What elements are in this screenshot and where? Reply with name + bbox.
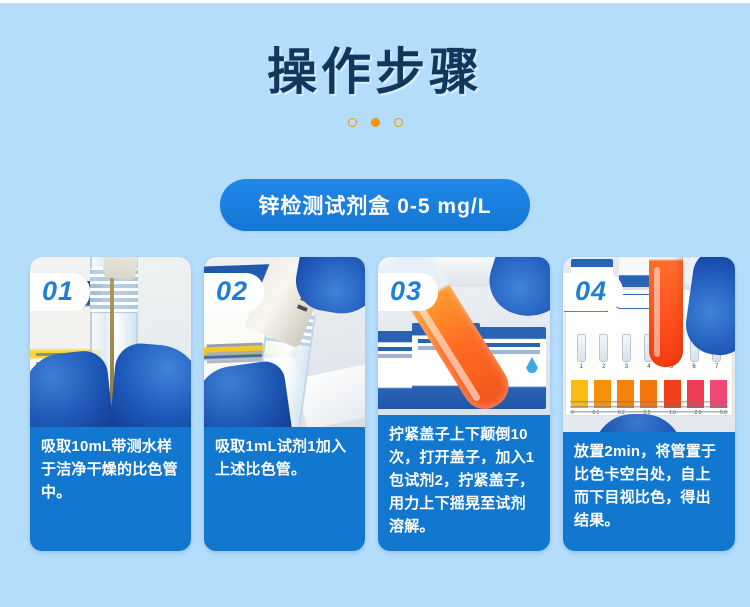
card-footer-text [570, 401, 728, 413]
step-number: 3 [625, 364, 628, 373]
gloved-hand-right [481, 257, 550, 327]
step-caption-1: 吸取10mL带测水样于洁净干燥的比色管中。 [30, 427, 191, 514]
dot-indicator-1 [348, 118, 357, 127]
step-card-2[interactable]: 02 吸取1mL试剂1加入上述比色管。 [204, 257, 365, 551]
page-header: 操作步骤 [0, 42, 750, 127]
step-number-row: 1 2 3 4 5 6 7 [570, 364, 728, 373]
tube-gloss-highlight [654, 267, 660, 357]
step-caption-2: 吸取1mL试剂1加入上述比色管。 [204, 427, 365, 491]
step-number: 4 [647, 364, 650, 373]
mini-tube [577, 334, 586, 362]
step-badge-1: 01 [30, 273, 90, 311]
mini-tube [599, 334, 608, 362]
mini-tube [622, 334, 631, 362]
dot-indicator-group [0, 118, 750, 127]
gloved-hand-lower [204, 359, 293, 427]
step-caption-3: 拧紧盖子上下颠倒10次，打开盖子，加入1包试剂2，拧紧盖子，用力上下摇晃至试剂溶… [378, 415, 550, 548]
step-caption-4: 放置2min，将管置于比色卡空白处，自上而下目视比色，得出结果。 [563, 432, 735, 542]
gloved-hand-right [109, 341, 191, 427]
step-number: 6 [692, 364, 695, 373]
box-title-line [484, 343, 540, 347]
dot-indicator-3 [394, 118, 403, 127]
step-photo-1: 01 [30, 257, 191, 427]
step-badge-4: 04 [563, 273, 623, 311]
tube-cap-shape [102, 257, 139, 281]
step-card-1[interactable]: 01 吸取10mL带测水样于洁净干燥的比色管中。 [30, 257, 191, 551]
step-number: 2 [602, 364, 605, 373]
product-pill-wrap: 锌检测试剂盒 0-5 mg/L [0, 179, 750, 231]
step-card-4[interactable]: 比色卡 1 2 3 4 5 6 [563, 257, 735, 551]
step-photo-2: 02 [204, 257, 365, 427]
step-number: 1 [580, 364, 583, 373]
top-white-strip [0, 0, 750, 3]
dot-indicator-2 [371, 118, 380, 127]
water-drop-icon [526, 357, 538, 373]
step-card-3[interactable]: 03 拧紧盖子上下颠倒10次，打开盖子，加入1包试剂2，拧紧盖子，用力上下摇晃至… [378, 257, 550, 551]
page-title: 操作步骤 [0, 42, 750, 102]
step-badge-2: 02 [204, 273, 264, 311]
step-photo-3: 03 [378, 257, 550, 415]
gloved-hand-left [30, 349, 114, 427]
product-name-pill: 锌检测试剂盒 0-5 mg/L [220, 179, 529, 231]
orange-solution-tube [649, 257, 683, 367]
step-number: 7 [715, 364, 718, 373]
step-photo-4: 比色卡 1 2 3 4 5 6 [563, 257, 735, 432]
step-badge-3: 03 [378, 273, 438, 311]
steps-row: 01 吸取10mL带测水样于洁净干燥的比色管中。 02 吸取1mL试剂1加入上述… [30, 257, 720, 551]
